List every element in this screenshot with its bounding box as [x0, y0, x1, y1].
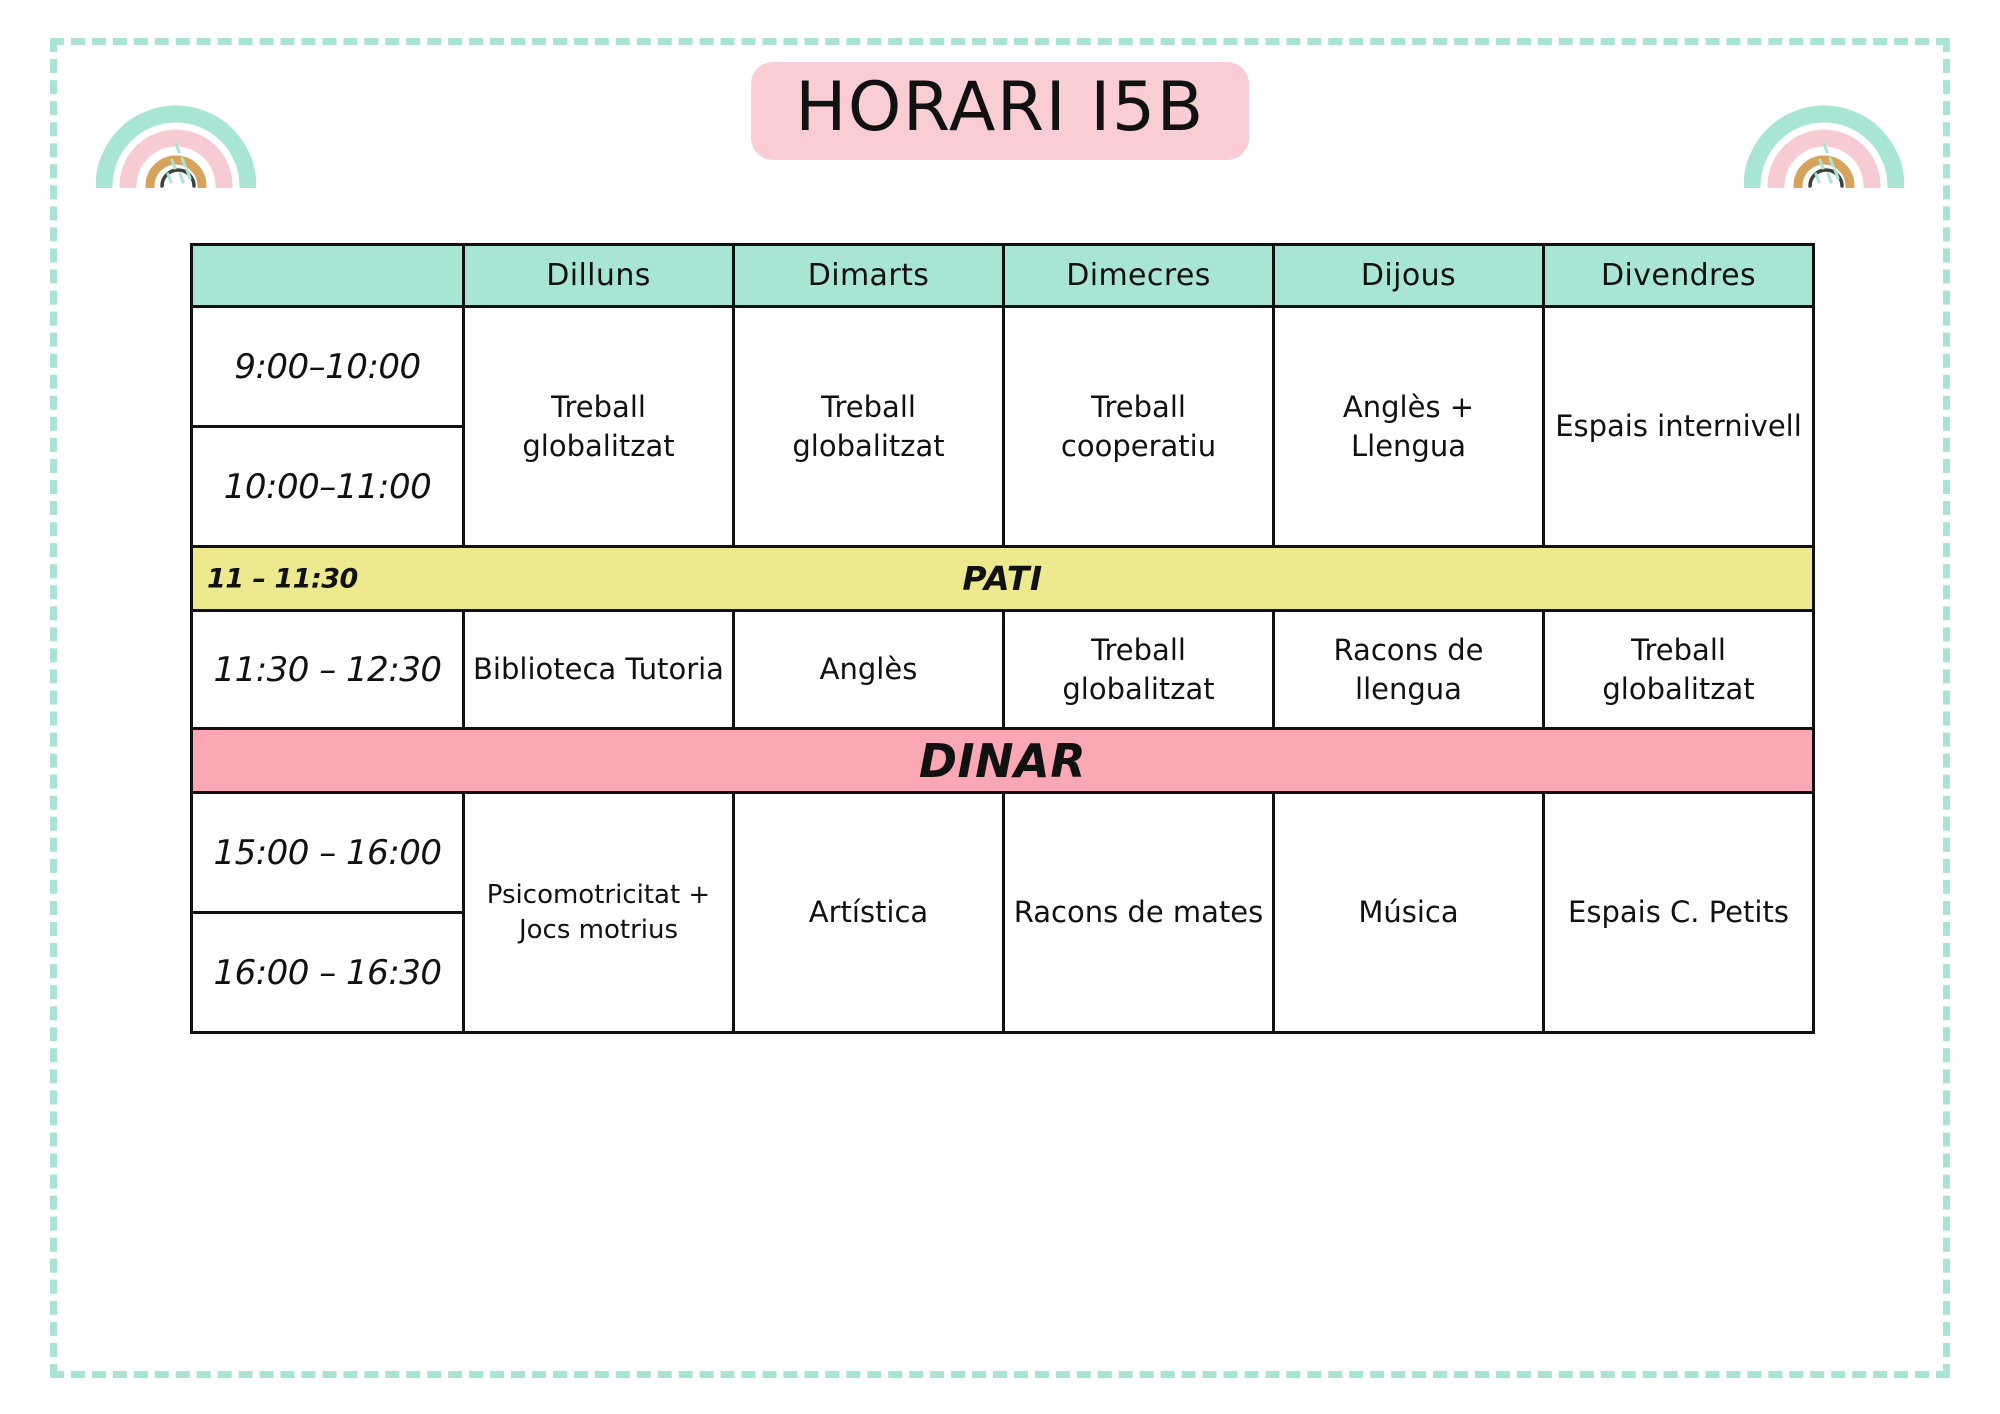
cell-divendres-midday[interactable]: Treball globalitzat: [1544, 611, 1814, 729]
table-row-slot4: 15:00 – 16:00 Psicomotricitat + Jocs mot…: [192, 793, 1814, 913]
schedule-table: Dilluns Dimarts Dimecres Dijous Divendre…: [190, 243, 1815, 1034]
cell-dimecres-midday[interactable]: Treball globalitzat: [1004, 611, 1274, 729]
pati-label: PATI: [962, 559, 1042, 598]
table-row-dinar: DINAR: [192, 729, 1814, 793]
header-day-dijous: Dijous: [1274, 245, 1544, 307]
header-day-dimarts: Dimarts: [734, 245, 1004, 307]
cell-divendres-morning[interactable]: Espais internivell: [1544, 307, 1814, 547]
header-corner-cell: [192, 245, 464, 307]
time-label-slot1: 9:00–10:00: [192, 307, 464, 427]
cell-dilluns-afternoon[interactable]: Psicomotricitat + Jocs motrius: [464, 793, 734, 1033]
cell-dilluns-morning[interactable]: Treball globalitzat: [464, 307, 734, 547]
dinar-label: DINAR: [919, 734, 1086, 788]
header-day-dilluns: Dilluns: [464, 245, 734, 307]
table-row-slot3: 11:30 – 12:30 Biblioteca Tutoria Anglès …: [192, 611, 1814, 729]
cell-dijous-afternoon[interactable]: Música: [1274, 793, 1544, 1033]
time-label-slot3: 11:30 – 12:30: [192, 611, 464, 729]
cell-dilluns-midday[interactable]: Biblioteca Tutoria: [464, 611, 734, 729]
page-title-container: HORARI I5B: [0, 62, 2000, 160]
pati-time-label: 11 – 11:30: [207, 563, 358, 594]
header-day-divendres: Divendres: [1544, 245, 1814, 307]
table-row-pati: 11 – 11:30 PATI: [192, 547, 1814, 611]
time-label-slot2: 10:00–11:00: [192, 427, 464, 547]
time-label-slot4: 15:00 – 16:00: [192, 793, 464, 913]
table-row-slot1: 9:00–10:00 Treball globalitzat Treball g…: [192, 307, 1814, 427]
pati-banner: 11 – 11:30 PATI: [192, 547, 1814, 611]
cell-dimarts-morning[interactable]: Treball globalitzat: [734, 307, 1004, 547]
cell-dijous-midday[interactable]: Racons de llengua: [1274, 611, 1544, 729]
cell-dimecres-morning[interactable]: Treball cooperatiu: [1004, 307, 1274, 547]
cell-dimarts-midday[interactable]: Anglès: [734, 611, 1004, 729]
table-header-row: Dilluns Dimarts Dimecres Dijous Divendre…: [192, 245, 1814, 307]
dinar-banner: DINAR: [192, 729, 1814, 793]
cell-dijous-morning[interactable]: Anglès + Llengua: [1274, 307, 1544, 547]
page-title: HORARI I5B: [751, 62, 1249, 160]
cell-divendres-afternoon[interactable]: Espais C. Petits: [1544, 793, 1814, 1033]
header-day-dimecres: Dimecres: [1004, 245, 1274, 307]
schedule-table-container: Dilluns Dimarts Dimecres Dijous Divendre…: [190, 243, 1812, 1034]
cell-dimarts-afternoon[interactable]: Artística: [734, 793, 1004, 1033]
cell-dimecres-afternoon[interactable]: Racons de mates: [1004, 793, 1274, 1033]
time-label-slot5: 16:00 – 16:30: [192, 913, 464, 1033]
